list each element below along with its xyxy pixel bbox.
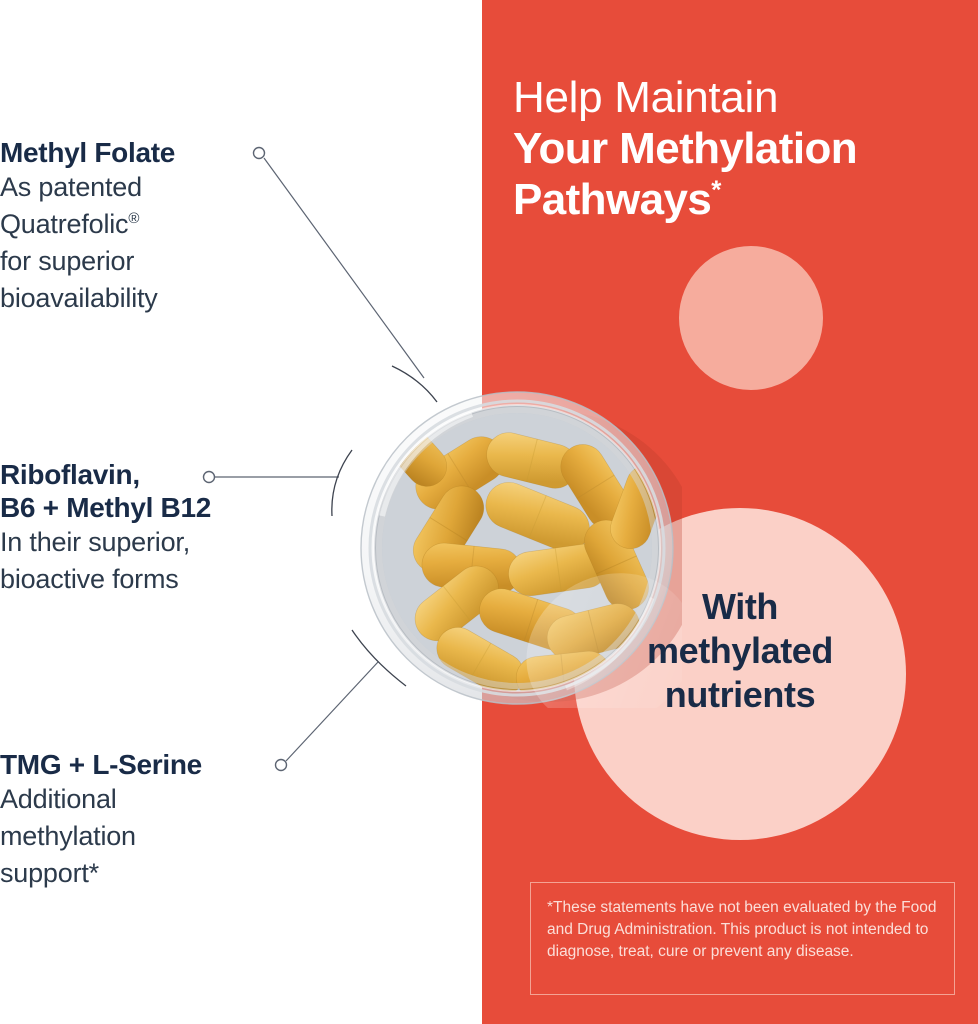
callout-body-pre: Additional methylation support* — [0, 784, 136, 888]
badge-line-3: nutrients — [590, 673, 890, 717]
callout-title: TMG + L-Serine — [0, 748, 320, 781]
registered-mark: ® — [128, 210, 139, 227]
callout-riboflavin-b6-b12: Riboflavin, B6 + Methyl B12 In their sup… — [0, 458, 330, 598]
connector-arc-2 — [332, 450, 352, 516]
callout-body-pre: As patented Quatrefolic — [0, 172, 142, 239]
decorative-circle-small — [679, 246, 823, 390]
callout-body: Additional methylation support* — [0, 781, 320, 892]
badge-line-1: With — [590, 585, 890, 629]
fda-disclaimer: *These statements have not been evaluate… — [530, 882, 955, 995]
headline-line-1: Help Maintain — [513, 72, 968, 123]
badge-methylated-nutrients: With methylated nutrients — [590, 585, 890, 717]
callout-body-post: for superior bioavailability — [0, 246, 158, 313]
infographic-canvas: Help Maintain Your Methylation Pathways*… — [0, 0, 978, 1024]
headline: Help Maintain Your Methylation Pathways* — [513, 72, 968, 225]
callout-body: In their superior, bioactive forms — [0, 524, 330, 598]
callout-body: As patented Quatrefolic® for superior bi… — [0, 169, 300, 317]
headline-line-3: Pathways — [513, 175, 711, 224]
callout-title: Methyl Folate — [0, 136, 300, 169]
callout-body-pre: In their superior, bioactive forms — [0, 527, 190, 594]
callout-title: Riboflavin, B6 + Methyl B12 — [0, 458, 330, 524]
headline-line-2: Your Methylation — [513, 123, 968, 174]
headline-asterisk: * — [711, 174, 721, 204]
callout-methyl-folate: Methyl Folate As patented Quatrefolic® f… — [0, 136, 300, 317]
headline-line-3-wrap: Pathways* — [513, 174, 968, 225]
badge-line-2: methylated — [590, 629, 890, 673]
callout-tmg-l-serine: TMG + L-Serine Additional methylation su… — [0, 748, 320, 892]
